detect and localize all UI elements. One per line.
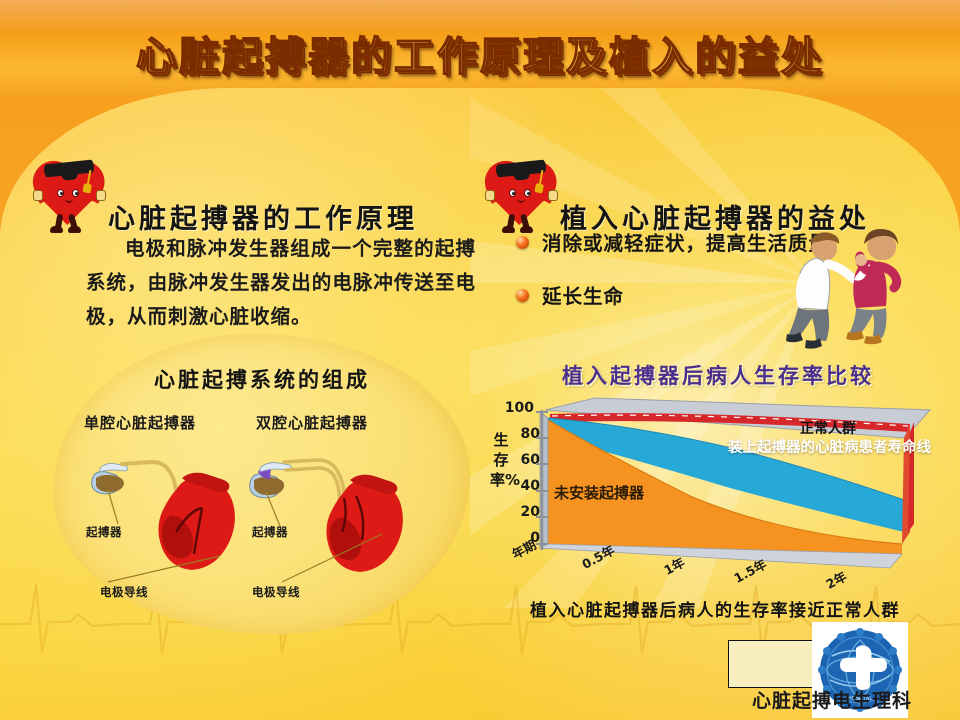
left-heading-text: 心脏起搏器的工作原理: [108, 197, 418, 236]
device-label-dual-chamber: 双腔心脏起搏器: [256, 412, 368, 433]
device-callout-label-1: 起搏器: [86, 524, 122, 540]
heart-graduate-mascot-icon: [40, 162, 98, 236]
bullet-dot-icon: [516, 236, 529, 249]
lead-callout-label-1: 电极导线: [100, 584, 148, 600]
left-paragraph: 电极和脉冲发生器组成一个完整的起搏系统，由脉冲发生器发出的电脉冲传送至电极，从而…: [86, 232, 476, 334]
chart-title: 植入起搏器后病人生存率比较: [498, 360, 938, 390]
dancing-couple-icon: [782, 222, 922, 354]
department-name: 心脏起搏电生理科: [752, 686, 960, 713]
chart-annotation-pacemaker-patients: 装上起搏器的心脏病患者寿命线: [728, 438, 908, 459]
lead-callout-label-2: 电极导线: [252, 584, 300, 600]
lead-callout-line-2: [272, 528, 402, 590]
chart-annotation-normal-population: 正常人群: [800, 418, 856, 438]
page-title: 心脏起搏器的工作原理及植入的益处: [0, 24, 960, 82]
diagram-title: 心脏起搏系统的组成: [54, 364, 470, 394]
device-label-single-chamber: 单腔心脏起搏器: [84, 412, 196, 433]
title-banner: 心脏起搏器的工作原理及植入的益处: [0, 0, 960, 96]
heart-graduate-mascot-icon-2: [492, 162, 550, 236]
chart-annotation-no-pacemaker: 未安装起搏器: [554, 482, 644, 503]
chart-caption: 植入心脏起搏器后病人的生存率接近正常人群: [490, 596, 940, 621]
left-section-heading: 心脏起搏器的工作原理: [40, 162, 418, 236]
benefit-text-2: 延长生命: [542, 281, 624, 312]
poster-canvas: 心脏起搏器的工作原理及植入的益处 心脏起搏器的工作原理 电极和脉冲发生器组成一个…: [0, 0, 960, 720]
bullet-dot-icon-2: [516, 289, 529, 302]
